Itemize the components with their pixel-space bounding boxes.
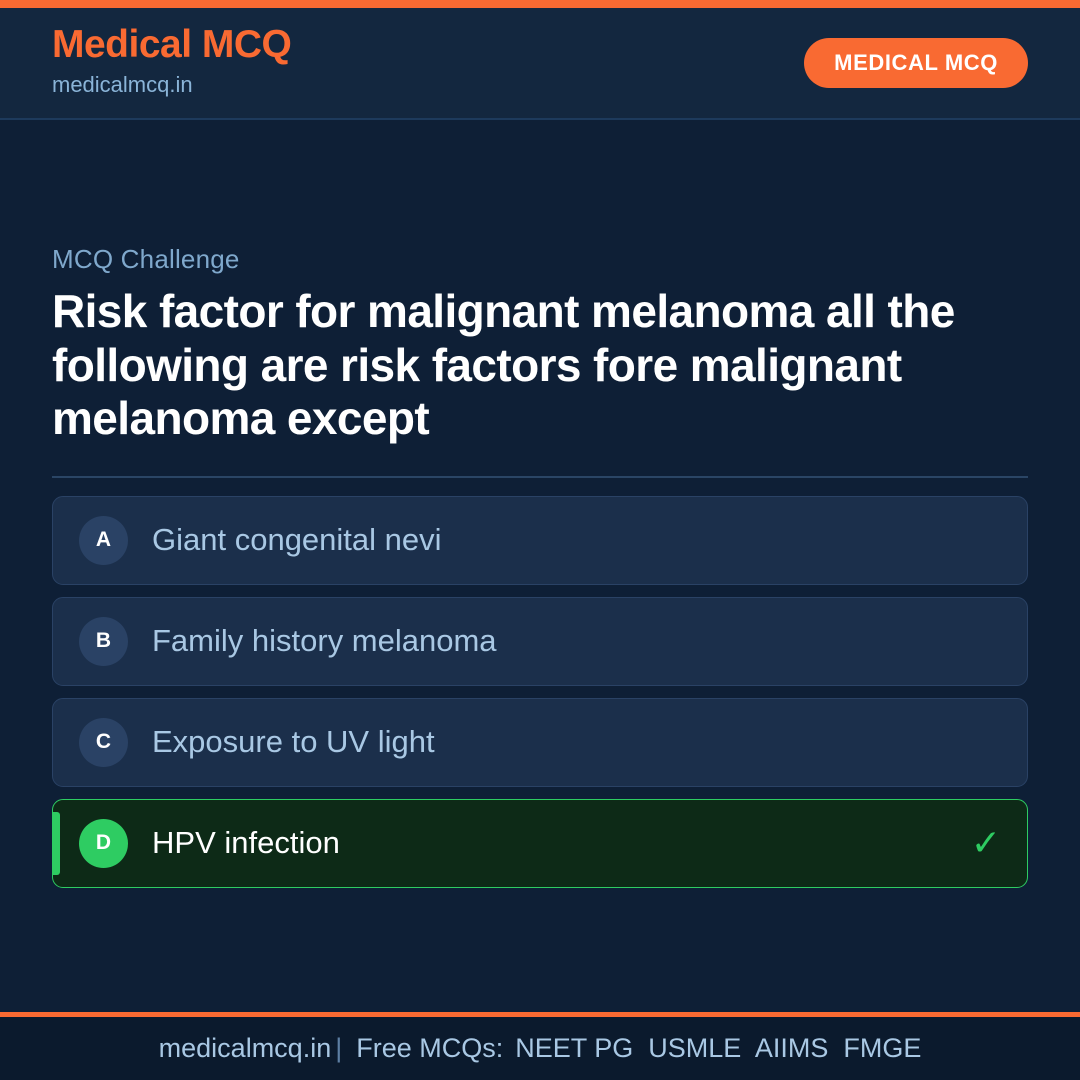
option-label: Giant congenital nevi bbox=[152, 521, 442, 558]
footer-exams-label: Free MCQs: bbox=[356, 1033, 503, 1064]
option-c[interactable]: C Exposure to UV light ✓ bbox=[52, 698, 1028, 787]
option-letter-badge: C bbox=[79, 718, 128, 767]
option-b[interactable]: B Family history melanoma ✓ bbox=[52, 597, 1028, 686]
footer-exams: NEET PG USMLE AIIMS FMGE bbox=[515, 1033, 921, 1064]
correct-accent-bar bbox=[53, 812, 60, 875]
brand-url: medicalmcq.in bbox=[52, 68, 291, 101]
option-a[interactable]: A Giant congenital nevi ✓ bbox=[52, 496, 1028, 585]
option-label: Family history melanoma bbox=[152, 622, 497, 659]
kicker-label: MCQ Challenge bbox=[52, 244, 1028, 275]
section-divider bbox=[52, 476, 1028, 478]
header-badge: MEDICAL MCQ bbox=[804, 38, 1028, 88]
option-label: HPV infection bbox=[152, 824, 340, 861]
option-d[interactable]: D HPV infection ✓ bbox=[52, 799, 1028, 888]
option-letter-badge: A bbox=[79, 516, 128, 565]
options-list: A Giant congenital nevi ✓ B Family histo… bbox=[52, 496, 1028, 888]
option-letter-badge: D bbox=[79, 819, 128, 868]
check-icon: ✓ bbox=[971, 825, 1001, 861]
footer: medicalmcq.in | Free MCQs: NEET PG USMLE… bbox=[0, 1017, 1080, 1080]
brand-title: Medical MCQ bbox=[52, 25, 291, 66]
footer-separator: | bbox=[331, 1033, 346, 1064]
main-content: MCQ Challenge Risk factor for malignant … bbox=[0, 120, 1080, 1012]
footer-site: medicalmcq.in bbox=[159, 1033, 332, 1064]
option-letter-badge: B bbox=[79, 617, 128, 666]
top-accent-bar bbox=[0, 0, 1080, 8]
header: Medical MCQ medicalmcq.in MEDICAL MCQ bbox=[0, 8, 1080, 120]
brand-block: Medical MCQ medicalmcq.in bbox=[52, 25, 291, 101]
mcq-card: Medical MCQ medicalmcq.in MEDICAL MCQ MC… bbox=[0, 0, 1080, 1080]
question-text: Risk factor for malignant melanoma all t… bbox=[52, 285, 1028, 445]
option-label: Exposure to UV light bbox=[152, 723, 435, 760]
